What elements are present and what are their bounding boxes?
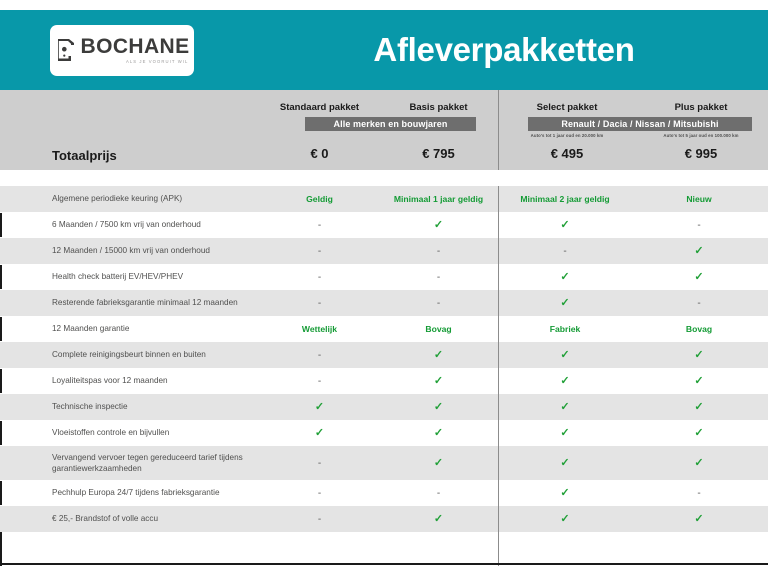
feature-value-plus: - (632, 488, 766, 499)
package-group-generic: Standaard pakket Basis pakket Alle merke… (260, 90, 498, 170)
column-title-plus: Plus pakket (634, 102, 768, 113)
bochane-logo: BOCHANE ALS JE VOORUIT WIL (50, 25, 194, 76)
feature-value-select: Minimaal 2 jaar geldig (498, 194, 632, 204)
feature-value-basis: ✓ (379, 376, 498, 387)
dash-icon: - (563, 246, 566, 257)
feature-value-basis: - (379, 488, 498, 499)
row-column-divider (498, 446, 499, 480)
check-icon: ✓ (694, 375, 703, 387)
feature-label: Loyaliteitspas voor 12 maanden (0, 375, 260, 386)
feature-value-basis: ✓ (379, 350, 498, 361)
page-banner: BOCHANE ALS JE VOORUIT WIL Afleverpakket… (0, 10, 768, 90)
package-group-generic-names: Standaard pakket Basis pakket (260, 102, 498, 113)
feature-value-basis: Minimaal 1 jaar geldig (379, 194, 498, 204)
check-icon: ✓ (315, 427, 324, 439)
row-left-edge (0, 213, 2, 237)
package-group-generic-bar: Alle merken en bouwjaren (305, 117, 476, 131)
feature-comparison-table: Algemene periodieke keuring (APK)GeldigM… (0, 170, 768, 566)
footer-column-divider (498, 532, 499, 566)
car-key-fob-icon (55, 37, 76, 63)
value-text: Geldig (306, 194, 333, 204)
dash-icon: - (697, 220, 700, 231)
column-sub-select: Auto's tot 1 jaar oud en 20.000 km (500, 133, 634, 138)
package-group-brands-subs: Auto's tot 1 jaar oud en 20.000 km Auto'… (500, 133, 768, 138)
package-group-brands-prices: € 495 € 995 (500, 146, 768, 161)
column-title-standaard: Standaard pakket (260, 102, 379, 113)
check-icon: ✓ (560, 375, 569, 387)
value-text: Minimaal 1 jaar geldig (394, 194, 483, 204)
feature-value-select: ✓ (498, 350, 632, 361)
feature-label: 6 Maanden / 7500 km vrij van onderhoud (0, 219, 260, 230)
header-column-divider (498, 90, 499, 170)
check-icon: ✓ (315, 401, 324, 413)
feature-value-basis: ✓ (379, 514, 498, 525)
feature-label: Complete reinigingsbeurt binnen en buite… (0, 349, 260, 360)
row-left-edge (0, 291, 2, 315)
table-row: Pechhulp Europa 24/7 tijdens fabrieksgar… (0, 480, 768, 506)
check-icon: ✓ (694, 513, 703, 525)
column-title-basis: Basis pakket (379, 102, 498, 113)
feature-value-standaard: - (260, 350, 379, 361)
row-column-divider (498, 212, 499, 238)
check-icon: ✓ (560, 487, 569, 499)
row-left-edge (0, 507, 2, 531)
row-left-edge (0, 239, 2, 263)
check-icon: ✓ (434, 375, 443, 387)
feature-value-plus: - (632, 298, 766, 309)
table-row: Resterende fabrieksgarantie minimaal 12 … (0, 290, 768, 316)
check-icon: ✓ (694, 245, 703, 257)
check-icon: ✓ (560, 349, 569, 361)
feature-label: 12 Maanden garantie (0, 323, 260, 334)
table-row: Vervangend vervoer tegen gereduceerd tar… (0, 446, 768, 480)
price-select: € 495 (500, 146, 634, 161)
feature-value-select: ✓ (498, 298, 632, 309)
feature-value-select: ✓ (498, 376, 632, 387)
row-column-divider (498, 342, 499, 368)
table-row: € 25,- Brandstof of volle accu-✓✓✓ (0, 506, 768, 532)
table-top-spacer (0, 170, 768, 186)
feature-label: € 25,- Brandstof of volle accu (0, 513, 260, 524)
logo-wordmark: BOCHANE ALS JE VOORUIT WIL (81, 36, 190, 64)
feature-label: Algemene periodieke keuring (APK) (0, 193, 260, 204)
dash-icon: - (318, 298, 321, 309)
dash-icon: - (697, 488, 700, 499)
price-basis: € 795 (379, 146, 498, 161)
row-left-edge (0, 317, 2, 341)
feature-value-standaard: - (260, 298, 379, 309)
row-left-edge (0, 369, 2, 393)
table-row: 12 Maanden / 15000 km vrij van onderhoud… (0, 238, 768, 264)
feature-value-basis: ✓ (379, 428, 498, 439)
page-bottom-rule (0, 563, 768, 565)
column-title-select: Select pakket (500, 102, 634, 113)
dash-icon: - (437, 246, 440, 257)
dash-icon: - (318, 488, 321, 499)
check-icon: ✓ (434, 513, 443, 525)
feature-value-basis: ✓ (379, 458, 498, 469)
row-column-divider (498, 238, 499, 264)
page-title: Afleverpakketten (240, 31, 768, 69)
check-icon: ✓ (560, 219, 569, 231)
feature-value-plus: ✓ (632, 350, 766, 361)
feature-value-standaard: - (260, 220, 379, 231)
check-icon: ✓ (694, 349, 703, 361)
footer-left-edge (0, 532, 2, 566)
table-footer-row (0, 532, 768, 566)
row-column-divider (498, 316, 499, 342)
feature-value-select: ✓ (498, 272, 632, 283)
table-row: Technische inspectie✓✓✓✓ (0, 394, 768, 420)
table-row: 6 Maanden / 7500 km vrij van onderhoud-✓… (0, 212, 768, 238)
table-row: Algemene periodieke keuring (APK)GeldigM… (0, 186, 768, 212)
feature-value-standaard: ✓ (260, 402, 379, 413)
feature-value-plus: Bovag (632, 324, 766, 334)
feature-value-basis: ✓ (379, 402, 498, 413)
row-column-divider (498, 186, 499, 212)
check-icon: ✓ (434, 349, 443, 361)
column-sub-plus: Auto's tot 5 jaar oud en 100.000 km (634, 133, 768, 138)
check-icon: ✓ (694, 457, 703, 469)
dash-icon: - (318, 350, 321, 361)
table-row: 12 Maanden garantieWettelijkBovagFabriek… (0, 316, 768, 342)
feature-value-plus: ✓ (632, 458, 766, 469)
package-group-brands-bar: Renault / Dacia / Nissan / Mitsubishi (528, 117, 752, 131)
feature-label: Vervangend vervoer tegen gereduceerd tar… (0, 452, 260, 474)
feature-value-plus: ✓ (632, 428, 766, 439)
feature-value-plus: - (632, 220, 766, 231)
price-standaard: € 0 (260, 146, 379, 161)
check-icon: ✓ (434, 427, 443, 439)
feature-value-select: - (498, 246, 632, 257)
row-left-edge (0, 265, 2, 289)
check-icon: ✓ (560, 427, 569, 439)
value-text: Wettelijk (302, 324, 337, 334)
check-icon: ✓ (694, 401, 703, 413)
logo-tagline: ALS JE VOORUIT WIL (126, 60, 189, 64)
row-column-divider (498, 290, 499, 316)
row-left-edge (0, 481, 2, 505)
value-text: Bovag (686, 324, 712, 334)
feature-value-select: ✓ (498, 514, 632, 525)
feature-value-select: ✓ (498, 402, 632, 413)
feature-value-plus: ✓ (632, 376, 766, 387)
row-column-divider (498, 480, 499, 506)
check-icon: ✓ (560, 401, 569, 413)
feature-label: Resterende fabrieksgarantie minimaal 12 … (0, 297, 260, 308)
feature-value-plus: ✓ (632, 514, 766, 525)
feature-value-standaard: - (260, 514, 379, 525)
check-icon: ✓ (694, 427, 703, 439)
feature-value-plus: Nieuw (632, 194, 766, 204)
feature-value-select: ✓ (498, 220, 632, 231)
feature-label: Technische inspectie (0, 401, 260, 412)
feature-value-select: Fabriek (498, 324, 632, 334)
feature-value-standaard: - (260, 458, 379, 469)
dash-icon: - (318, 458, 321, 469)
package-group-brands-names: Select pakket Plus pakket (500, 102, 768, 113)
row-left-edge (0, 421, 2, 445)
feature-value-basis: - (379, 298, 498, 309)
row-left-edge (0, 447, 2, 479)
afleverpakketten-page: BOCHANE ALS JE VOORUIT WIL Afleverpakket… (0, 0, 768, 576)
table-row: Health check batterij EV/HEV/PHEV--✓✓ (0, 264, 768, 290)
check-icon: ✓ (560, 297, 569, 309)
dash-icon: - (437, 488, 440, 499)
dash-icon: - (318, 514, 321, 525)
feature-value-basis: ✓ (379, 220, 498, 231)
dash-icon: - (318, 376, 321, 387)
feature-value-standaard: ✓ (260, 428, 379, 439)
feature-value-standaard: Wettelijk (260, 324, 379, 334)
check-icon: ✓ (560, 457, 569, 469)
feature-label: 12 Maanden / 15000 km vrij van onderhoud (0, 245, 260, 256)
row-column-divider (498, 420, 499, 446)
feature-value-select: ✓ (498, 458, 632, 469)
row-column-divider (498, 264, 499, 290)
row-left-edge (0, 395, 2, 419)
dash-icon: - (318, 246, 321, 257)
feature-value-plus: ✓ (632, 402, 766, 413)
row-left-edge (0, 343, 2, 367)
dash-icon: - (437, 272, 440, 283)
dash-icon: - (318, 272, 321, 283)
package-group-generic-prices: € 0 € 795 (260, 146, 498, 161)
value-text: Minimaal 2 jaar geldig (520, 194, 609, 204)
feature-value-plus: ✓ (632, 246, 766, 257)
price-plus: € 995 (634, 146, 768, 161)
feature-value-standaard: - (260, 488, 379, 499)
table-row: Complete reinigingsbeurt binnen en buite… (0, 342, 768, 368)
package-group-brands: Select pakket Plus pakket Renault / Daci… (500, 90, 768, 170)
feature-value-select: ✓ (498, 428, 632, 439)
feature-value-select: ✓ (498, 488, 632, 499)
row-column-divider (498, 394, 499, 420)
feature-value-plus: ✓ (632, 272, 766, 283)
value-text: Bovag (425, 324, 451, 334)
totaalprijs-label: Totaalprijs (52, 148, 117, 163)
row-column-divider (498, 506, 499, 532)
dash-icon: - (318, 220, 321, 231)
check-icon: ✓ (560, 271, 569, 283)
check-icon: ✓ (434, 401, 443, 413)
dash-icon: - (697, 298, 700, 309)
feature-label: Pechhulp Europa 24/7 tijdens fabrieksgar… (0, 487, 260, 498)
feature-value-standaard: Geldig (260, 194, 379, 204)
value-text: Fabriek (550, 324, 581, 334)
feature-value-basis: - (379, 246, 498, 257)
feature-label: Health check batterij EV/HEV/PHEV (0, 271, 260, 282)
table-row: Loyaliteitspas voor 12 maanden-✓✓✓ (0, 368, 768, 394)
table-row: Vloeistoffen controle en bijvullen✓✓✓✓ (0, 420, 768, 446)
row-left-edge (0, 187, 2, 211)
row-column-divider (498, 368, 499, 394)
feature-value-standaard: - (260, 246, 379, 257)
check-icon: ✓ (694, 271, 703, 283)
logo-word: BOCHANE (81, 36, 190, 57)
check-icon: ✓ (434, 457, 443, 469)
dash-icon: - (437, 298, 440, 309)
feature-label: Vloeistoffen controle en bijvullen (0, 427, 260, 438)
feature-value-standaard: - (260, 376, 379, 387)
feature-value-basis: - (379, 272, 498, 283)
feature-value-basis: Bovag (379, 324, 498, 334)
value-text: Nieuw (686, 194, 711, 204)
feature-value-standaard: - (260, 272, 379, 283)
check-icon: ✓ (560, 513, 569, 525)
check-icon: ✓ (434, 219, 443, 231)
